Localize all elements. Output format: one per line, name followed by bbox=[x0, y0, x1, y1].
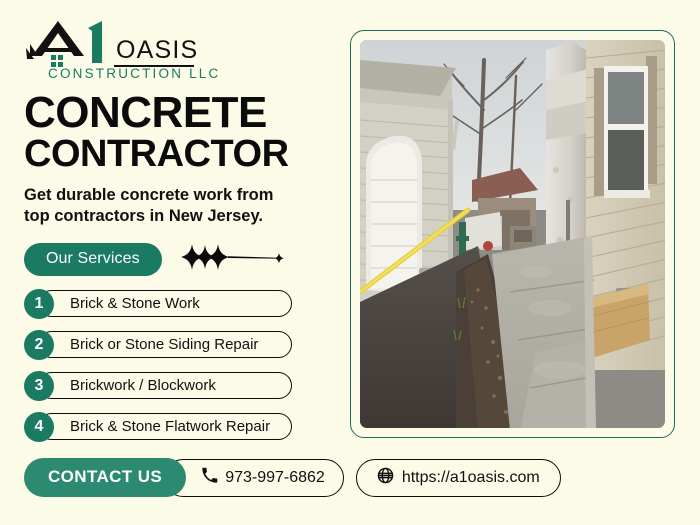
globe-icon bbox=[377, 467, 394, 489]
photo-frame bbox=[350, 30, 675, 438]
service-label: Brick & Stone Work bbox=[70, 289, 200, 318]
phone-field[interactable]: 973-997-6862 bbox=[164, 459, 344, 497]
services-heading-row: Our Services bbox=[24, 243, 324, 276]
left-content-column: OASIS CONSTRUCTION LLC CONCRETE CONTRACT… bbox=[24, 18, 324, 453]
list-item[interactable]: 4 Brick & Stone Flatwork Repair bbox=[24, 412, 292, 442]
list-item[interactable]: 3 Brickwork / Blockwork bbox=[24, 371, 292, 401]
service-number-badge: 4 bbox=[24, 412, 54, 442]
service-number-badge: 1 bbox=[24, 289, 54, 319]
subheading-text: Get durable concrete work from top contr… bbox=[24, 185, 302, 227]
sparkle-stars-icon bbox=[178, 244, 288, 275]
service-label: Brick & Stone Flatwork Repair bbox=[70, 412, 270, 441]
logo-word-oasis: OASIS bbox=[116, 36, 198, 65]
headline-line-2: CONTRACTOR bbox=[24, 136, 324, 172]
contact-bar: CONTACT US 973-997-6862 https://a1oasis.… bbox=[24, 458, 561, 497]
contact-us-button[interactable]: CONTACT US bbox=[24, 458, 186, 497]
our-services-badge: Our Services bbox=[24, 243, 162, 276]
phone-handset-icon bbox=[201, 467, 218, 489]
service-label: Brick or Stone Siding Repair bbox=[70, 330, 258, 359]
phone-number: 973-997-6862 bbox=[225, 469, 325, 487]
website-field[interactable]: https://a1oasis.com bbox=[356, 459, 561, 497]
page-title: CONCRETE CONTRACTOR bbox=[24, 92, 324, 172]
service-number-badge: 2 bbox=[24, 330, 54, 360]
services-list: 1 Brick & Stone Work 2 Brick or Stone Si… bbox=[24, 289, 324, 442]
project-photo bbox=[360, 40, 665, 428]
list-item[interactable]: 2 Brick or Stone Siding Repair bbox=[24, 330, 292, 360]
logo-subtitle: CONSTRUCTION LLC bbox=[48, 66, 220, 81]
flyer-canvas: OASIS CONSTRUCTION LLC CONCRETE CONTRACT… bbox=[0, 0, 700, 525]
website-url: https://a1oasis.com bbox=[402, 469, 540, 487]
service-number-badge: 3 bbox=[24, 371, 54, 401]
service-label: Brickwork / Blockwork bbox=[70, 371, 216, 400]
list-item[interactable]: 1 Brick & Stone Work bbox=[24, 289, 292, 319]
headline-line-1: CONCRETE bbox=[24, 92, 324, 134]
brand-logo: OASIS CONSTRUCTION LLC bbox=[24, 18, 314, 80]
